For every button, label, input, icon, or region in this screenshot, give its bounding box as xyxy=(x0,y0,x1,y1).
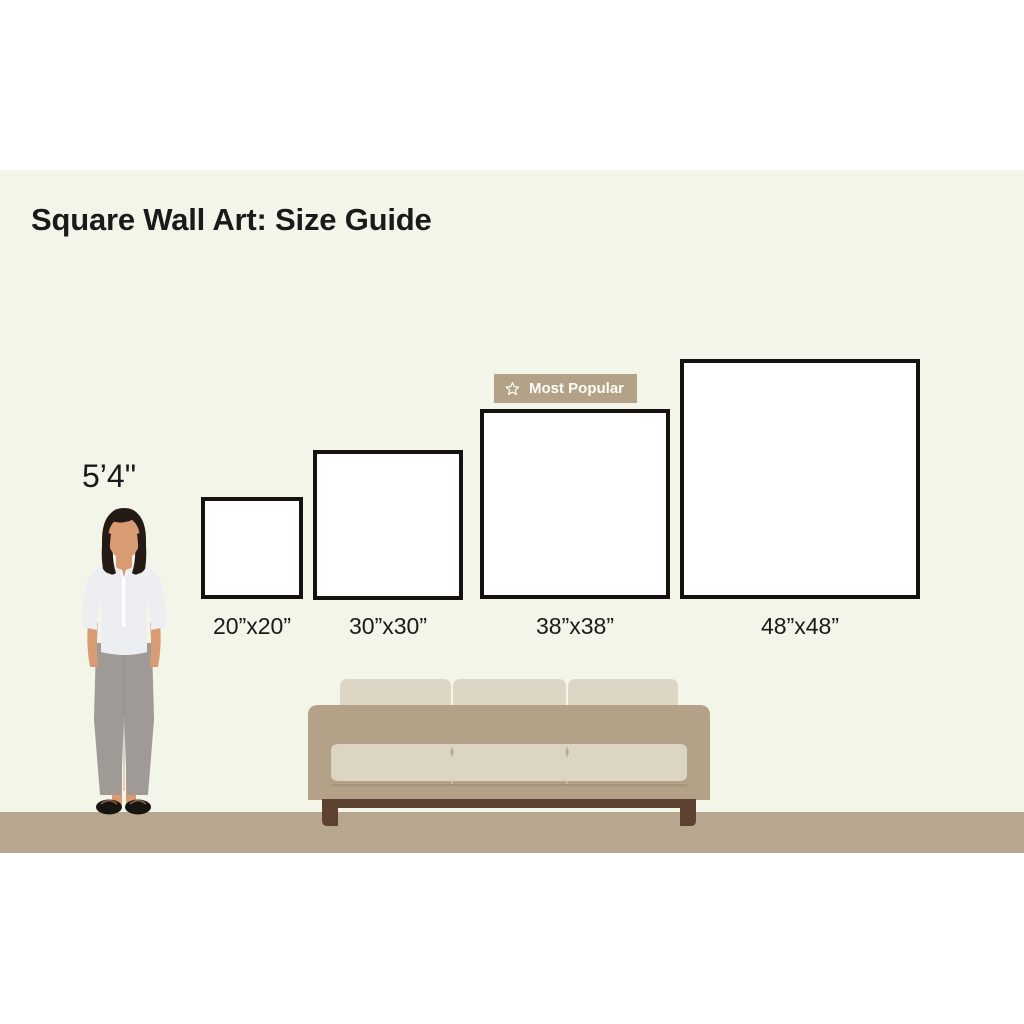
human-height-label: 5’4" xyxy=(82,458,136,495)
page-title: Square Wall Art: Size Guide xyxy=(31,202,432,238)
three-seat-sofa xyxy=(286,668,732,838)
size-guide-infographic: Square Wall Art: Size Guide 5’4" xyxy=(0,0,1024,1024)
standing-woman-figure xyxy=(68,505,180,825)
frame-label-30x30: 30”x30” xyxy=(288,613,488,640)
most-popular-badge-label: Most Popular xyxy=(529,381,624,396)
star-outline-icon xyxy=(505,381,520,396)
frame-label-48x48: 48”x48” xyxy=(700,613,900,640)
most-popular-badge[interactable]: Most Popular xyxy=(494,374,637,403)
frame-20x20[interactable] xyxy=(201,497,303,599)
frame-38x38[interactable] xyxy=(480,409,670,599)
frame-30x30[interactable] xyxy=(313,450,463,600)
frame-label-38x38: 38”x38” xyxy=(475,613,675,640)
frame-48x48[interactable] xyxy=(680,359,920,599)
